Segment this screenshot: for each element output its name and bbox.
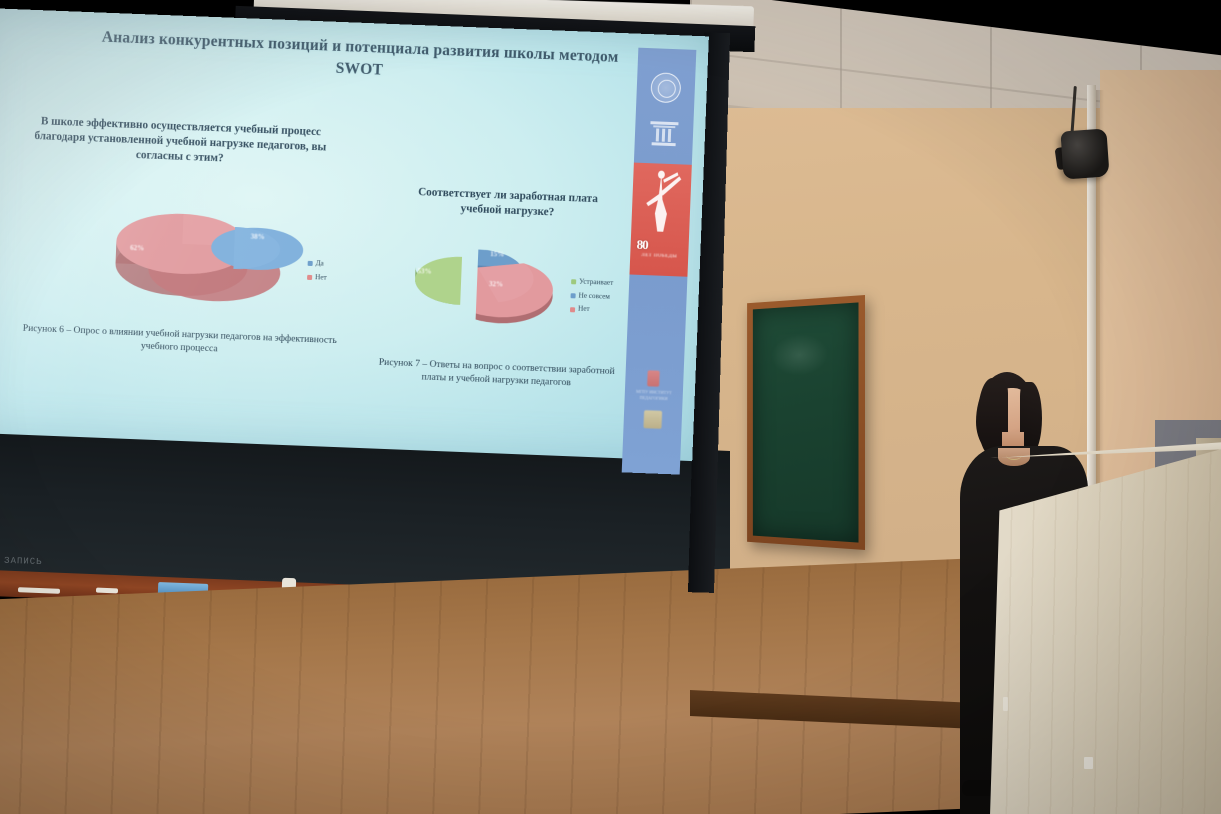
chalkboard xyxy=(747,295,865,550)
gold-badge-icon xyxy=(643,410,662,429)
column-emblem-icon xyxy=(647,118,680,149)
legend-item: Нет xyxy=(307,271,327,285)
pie-label-right-2: 32% xyxy=(489,280,503,289)
chart-right-caption: Рисунок 7 – Ответы на вопрос о соответст… xyxy=(371,355,622,392)
slide-sidebar: 80 ЛЕТ ПОБЕДЫ МГПУ ИНСТИТУТ ПЕДАГОГИКИ xyxy=(622,48,697,475)
ceiling-speaker-icon xyxy=(1060,128,1109,179)
legend-item: Нет xyxy=(570,303,613,318)
chart-right: Соответствует ли заработная плата учебно… xyxy=(378,184,634,224)
pie-label-left-0: 62% xyxy=(130,244,144,253)
motherland-calls-statue-icon xyxy=(639,169,684,247)
chalkboard-surface xyxy=(753,302,859,542)
chart-left: В школе эффективно осуществляется учебны… xyxy=(30,114,342,171)
podium-mark xyxy=(1003,697,1008,711)
chart-right-question: Соответствует ли заработная плата учебно… xyxy=(400,184,616,223)
podium-mark xyxy=(1084,757,1093,769)
legend-swatch-icon xyxy=(570,307,575,312)
chart-left-pie: 62% 38% xyxy=(102,197,306,315)
pie-label-right-0: 53% xyxy=(417,267,431,276)
legend-swatch-icon xyxy=(571,293,576,298)
chalkboard-smudge xyxy=(771,333,829,377)
legend-label: Устраивает xyxy=(579,276,614,291)
legend-swatch-icon xyxy=(308,261,313,266)
chalk-piece xyxy=(96,588,118,594)
partner-logo-icon xyxy=(647,370,660,386)
pie-label-right-1: 15% xyxy=(490,250,504,259)
university-seal-icon xyxy=(650,72,681,103)
pie-chart-right-svg xyxy=(391,232,585,349)
chart-left-caption: Рисунок 6 – Опрос о влиянии учебной нагр… xyxy=(14,321,345,361)
victory-anniversary-panel: 80 ЛЕТ ПОБЕДЫ xyxy=(629,163,691,277)
classroom-presentation-scene: ЗАПИСЬ Анализ конкурентных позиций и пот… xyxy=(0,0,1221,814)
projection-screen-assembly: Анализ конкурентных позиций и потенциала… xyxy=(0,0,743,493)
legend-label: Нет xyxy=(315,271,327,285)
chart-left-question: В школе эффективно осуществляется учебны… xyxy=(30,114,332,171)
sidebar-small-caption: МГПУ ИНСТИТУТ ПЕДАГОГИКИ xyxy=(629,389,679,404)
projected-slide: Анализ конкурентных позиций и потенциала… xyxy=(0,8,709,461)
chart-right-legend: Устраивает Не совсем Нет xyxy=(570,275,614,318)
slide-title: Анализ конкурентных позиций и потенциала… xyxy=(79,26,640,93)
anniversary-number: 80 xyxy=(636,237,677,255)
legend-swatch-icon xyxy=(307,275,312,280)
presenter-necklace xyxy=(1006,450,1022,460)
legend-label: Не совсем xyxy=(578,289,610,304)
legend-label: Да xyxy=(315,257,324,271)
chart-right-pie: 53% 15% 32% xyxy=(391,232,585,349)
legend-item: Да xyxy=(307,257,327,271)
pie-chart-left-svg xyxy=(102,197,306,315)
pie-label-left-1: 38% xyxy=(251,233,265,242)
chart-left-legend: Да Нет xyxy=(307,257,328,285)
anniversary-label: ЛЕТ ПОБЕДЫ xyxy=(634,253,684,260)
legend-label: Нет xyxy=(578,303,590,317)
legend-swatch-icon xyxy=(571,280,576,285)
